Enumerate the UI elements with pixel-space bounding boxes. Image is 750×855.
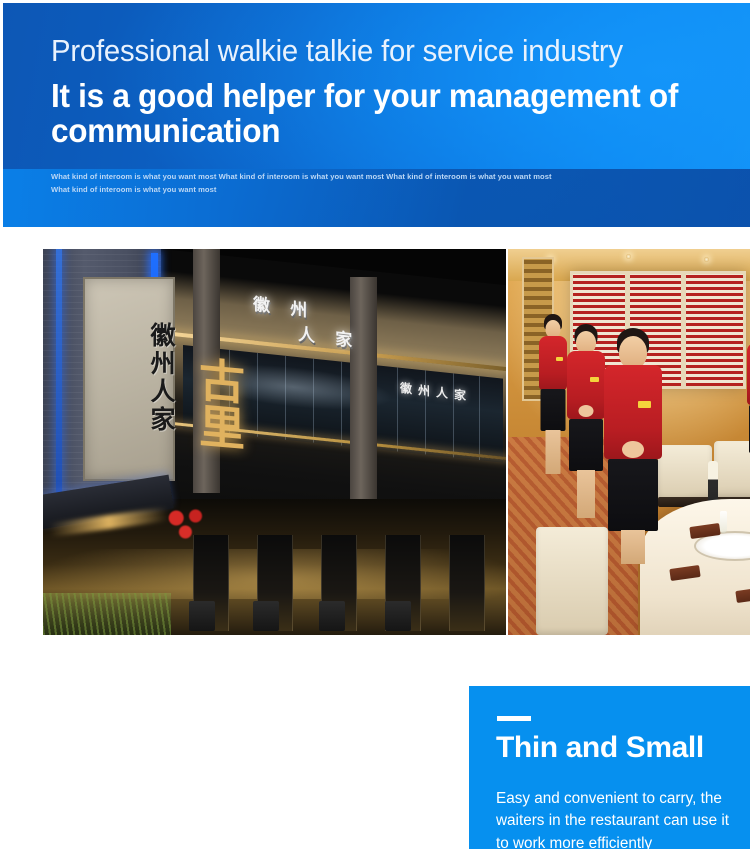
hero-note-line-2: What kind of interoom is what you want m… (51, 183, 611, 196)
staff-member-front-center (602, 331, 664, 561)
ceiling-light-2 (626, 254, 631, 259)
hero-title: It is a good helper for your management … (51, 78, 719, 149)
water-glass-1 (720, 511, 727, 533)
main-signboard-text: 徽州人家 (85, 289, 173, 467)
planter-3 (319, 601, 345, 631)
hero-content: Professional walkie talkie for service i… (3, 3, 750, 196)
gold-vertical-sign: 古里 (195, 355, 241, 469)
photo-strip: 徽 州 人 家 徽州人家 古里 徽州人家 (3, 233, 750, 619)
promo-banner-page: Professional walkie talkie for service i… (0, 0, 750, 639)
photo-night-restaurant-facade: 徽 州 人 家 徽州人家 古里 徽州人家 (43, 249, 506, 635)
photo-restaurant-staff (508, 249, 750, 635)
hero-eyebrow: Professional walkie talkie for service i… (51, 36, 722, 67)
dining-chair-2 (714, 441, 750, 501)
neon-strip-outer (56, 249, 62, 499)
hero-banner: Professional walkie talkie for service i… (3, 3, 750, 227)
callout-title: Thin and Small (496, 732, 704, 764)
planter-4 (385, 601, 411, 631)
staff-member-mid-left (566, 327, 606, 527)
ceiling-light-3 (704, 257, 709, 262)
doorway-5 (449, 535, 485, 631)
callout-accent-dash (497, 716, 531, 721)
planter-2 (253, 601, 279, 631)
planter-1 (189, 601, 215, 631)
hero-note: What kind of interoom is what you want m… (51, 170, 611, 196)
callout-body: Easy and convenient to carry, the waiter… (496, 788, 741, 855)
landscaping-grass (43, 593, 171, 635)
main-signboard: 徽州人家 (83, 277, 175, 481)
dining-chair-foreground (536, 527, 608, 635)
dining-chair-1 (658, 445, 712, 501)
staff-member-back-left (538, 317, 568, 507)
staff-member-right (746, 321, 750, 516)
callout-thin-and-small: Thin and Small Easy and convenient to ca… (469, 686, 750, 849)
hero-note-line-1: What kind of interoom is what you want m… (51, 170, 611, 183)
